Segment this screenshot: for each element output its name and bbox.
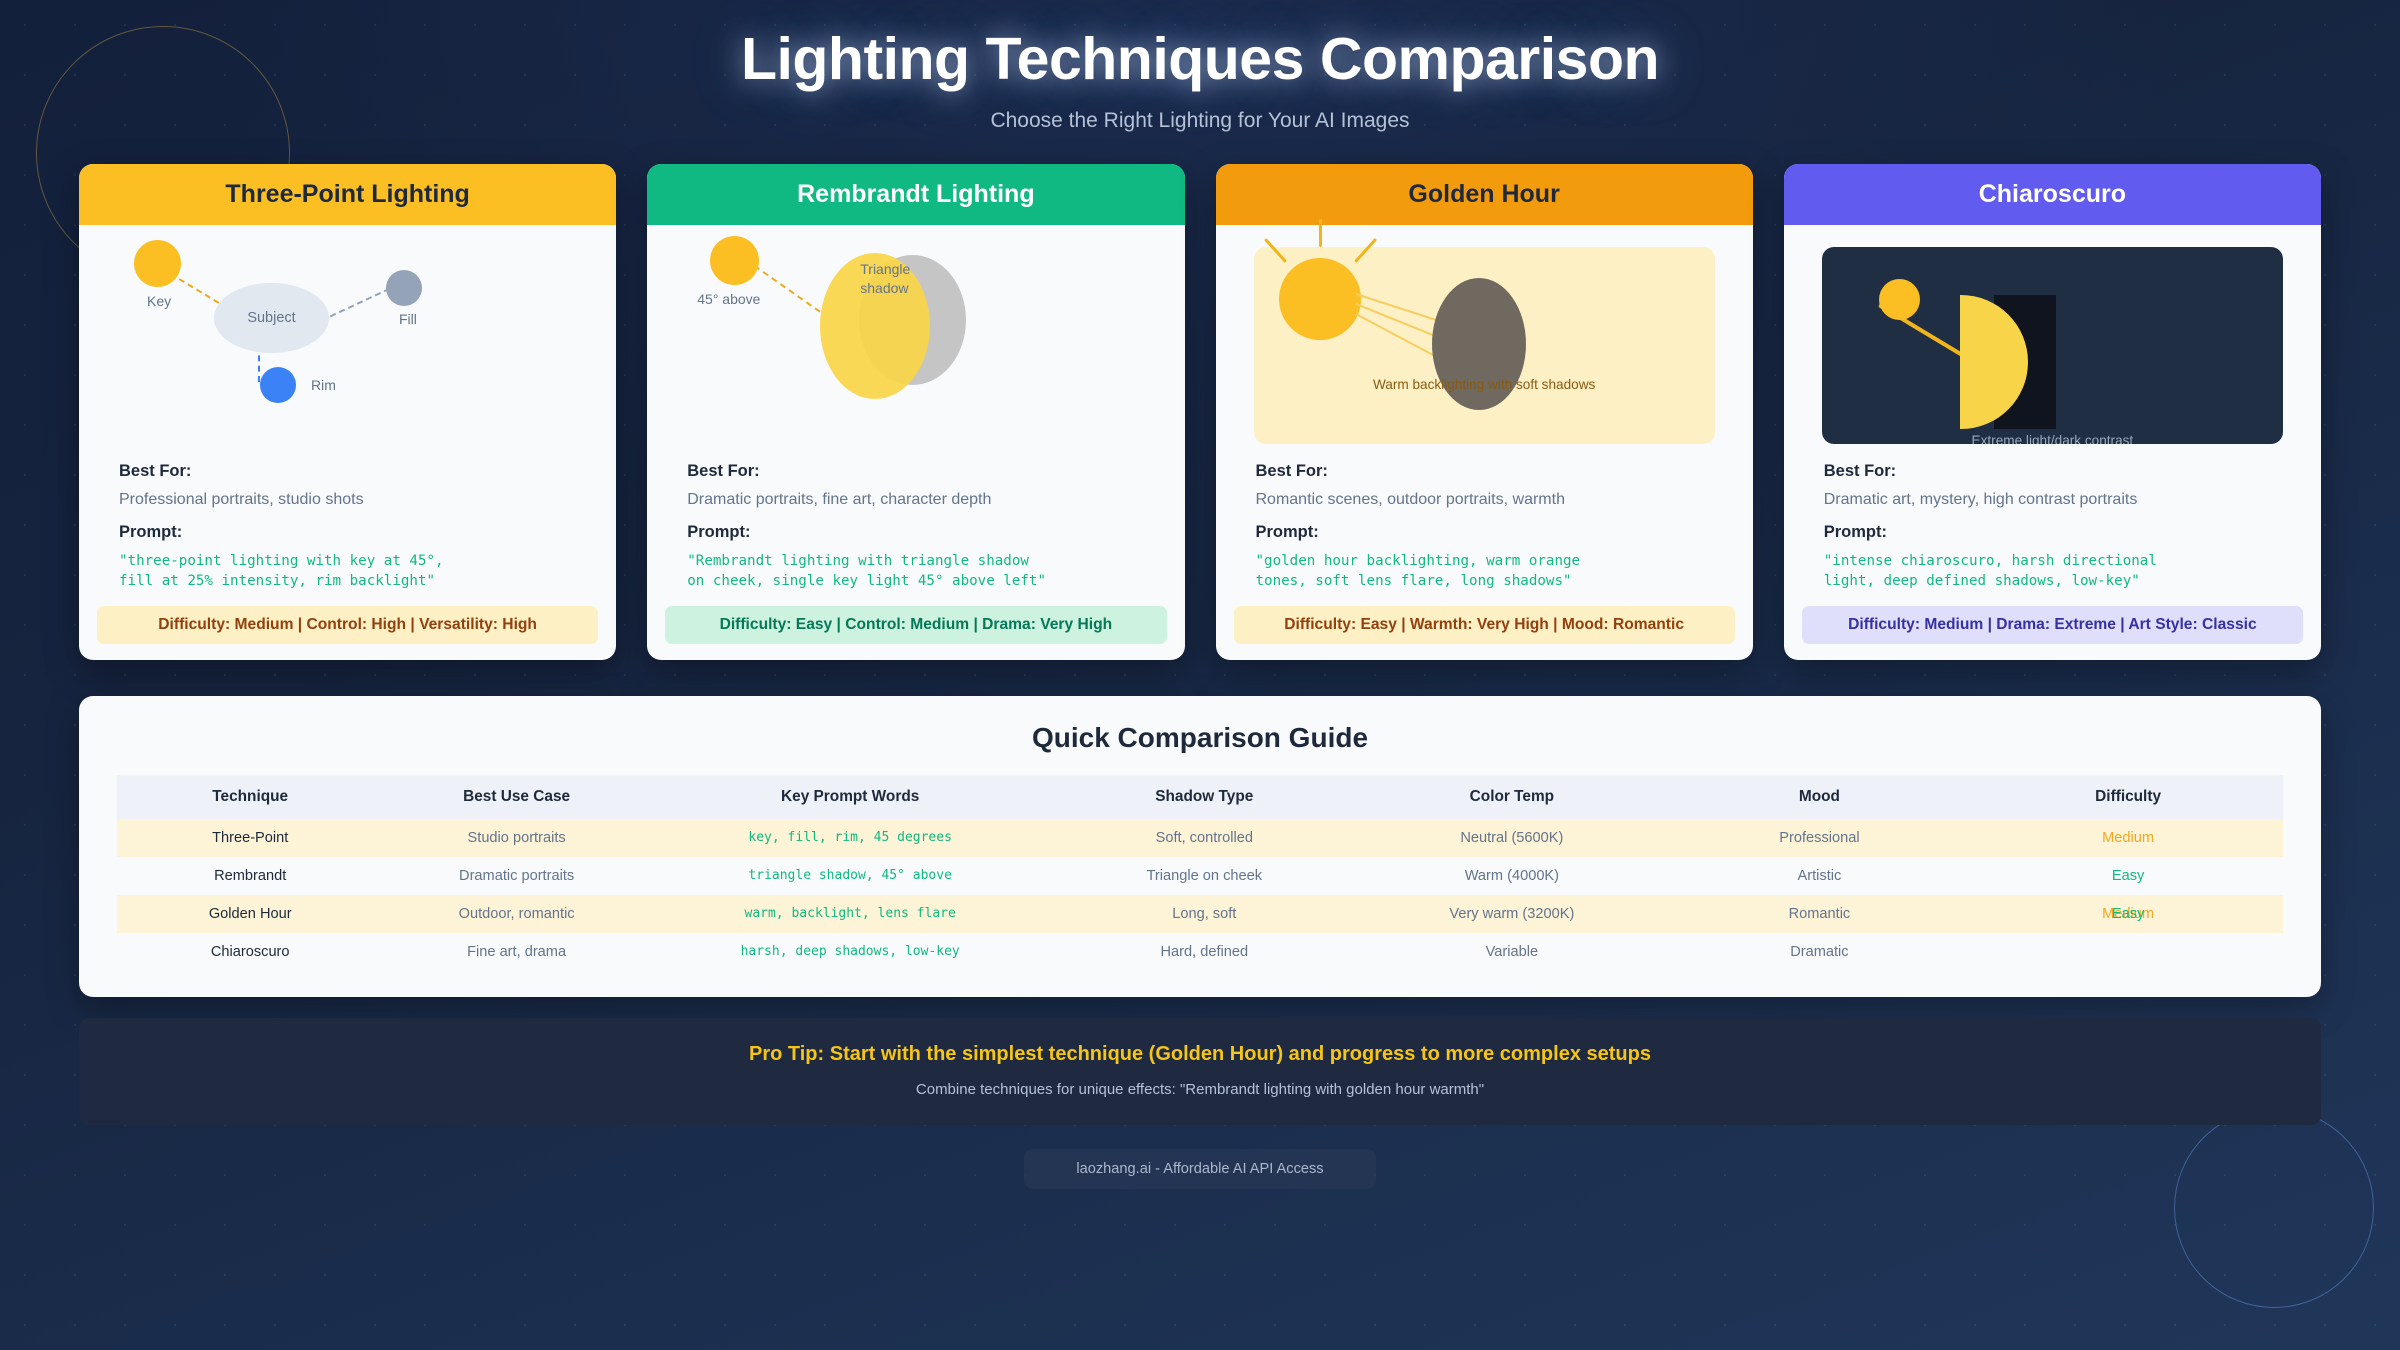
comparison-table: Technique Best Use Case Key Prompt Words… (117, 775, 2283, 971)
key-light-label: Key (147, 293, 171, 309)
card-badge: Difficulty: Easy | Warmth: Very High | M… (1234, 606, 1735, 644)
footer-attribution-pill[interactable]: laozhang.ai - Affordable AI API Access (1024, 1149, 1375, 1189)
cell-color-temp: Very warm (3200K) (1358, 895, 1666, 933)
cell-color-temp: Neutral (5600K) (1358, 819, 1666, 857)
three-point-diagram: Subject Key Fill Rim (109, 225, 586, 450)
prompt-label: Prompt: (1256, 523, 1713, 542)
prompt-label: Prompt: (1824, 523, 2281, 542)
comparison-table-section: Quick Comparison Guide Technique Best Us… (79, 696, 2321, 997)
card-header-golden-hour: Golden Hour (1216, 164, 1753, 225)
col-key-prompt-words: Key Prompt Words (650, 775, 1051, 819)
chiaroscuro-diagram: Extreme light/dark contrast (1814, 225, 2291, 450)
prompt-label: Prompt: (119, 523, 576, 542)
col-shadow-type: Shadow Type (1051, 775, 1359, 819)
col-technique: Technique (117, 775, 383, 819)
prompt-value[interactable]: "Rembrandt lighting with triangle shadow… (687, 551, 1144, 592)
table-row[interactable]: Golden Hour Outdoor, romantic warm, back… (117, 895, 2283, 933)
cell-use-case: Studio portraits (383, 819, 649, 857)
technique-card-list: Three-Point Lighting Subject Key Fill Ri… (0, 133, 2400, 660)
table-header-row: Technique Best Use Case Key Prompt Words… (117, 775, 2283, 819)
golden-hour-diagram: Warm backlighting with soft shadows (1246, 225, 1723, 450)
card-header-three-point: Three-Point Lighting (79, 164, 616, 225)
card-badge: Difficulty: Medium | Drama: Extreme | Ar… (1802, 606, 2303, 644)
technique-card-rembrandt[interactable]: Rembrandt Lighting 45° above Triangle sh… (647, 164, 1184, 660)
comparison-table-title: Quick Comparison Guide (117, 722, 2283, 754)
chiaroscuro-caption: Extreme light/dark contrast (1822, 433, 2283, 444)
card-title: Golden Hour (1408, 180, 1559, 209)
decorative-blue-circle (2174, 1108, 2374, 1308)
card-body: Warm backlighting with soft shadows Best… (1216, 225, 1753, 660)
best-for-value: Dramatic art, mystery, high contrast por… (1824, 490, 2281, 511)
light-angle-label: 45° above (697, 291, 760, 307)
key-light-dot (710, 236, 759, 285)
best-for-label: Best For: (687, 462, 1144, 481)
cell-technique: Three-Point (117, 819, 383, 857)
col-difficulty: Difficulty (1973, 775, 2283, 819)
table-row[interactable]: Three-Point Studio portraits key, fill, … (117, 819, 2283, 857)
page-footer: laozhang.ai - Affordable AI API Access (0, 1149, 2400, 1189)
light-to-face-line (754, 265, 821, 313)
key-light-dot (134, 240, 181, 287)
technique-card-golden-hour[interactable]: Golden Hour Warm backlighting with soft … (1216, 164, 1753, 660)
cell-mood: Artistic (1666, 857, 1974, 895)
page-background: Lighting Techniques Comparison Choose th… (0, 0, 2400, 1350)
cell-technique: Golden Hour (117, 895, 383, 933)
col-best-use-case: Best Use Case (383, 775, 649, 819)
cell-technique: Rembrandt (117, 857, 383, 895)
col-mood: Mood (1666, 775, 1974, 819)
card-header-rembrandt: Rembrandt Lighting (647, 164, 1184, 225)
pro-tip-banner: Pro Tip: Start with the simplest techniq… (79, 1018, 2321, 1125)
cell-keywords: harsh, deep shadows, low-key (650, 933, 1051, 971)
cell-difficulty: Medium (1973, 819, 2283, 857)
prompt-value[interactable]: "golden hour backlighting, warm orange t… (1256, 551, 1713, 592)
prompt-value[interactable]: "intense chiaroscuro, harsh directional … (1824, 551, 2281, 592)
cell-difficulty (1973, 933, 2283, 971)
card-body: Subject Key Fill Rim Best For: Professio… (79, 225, 616, 660)
page-title: Lighting Techniques Comparison (0, 28, 2400, 92)
technique-card-chiaroscuro[interactable]: Chiaroscuro Extreme light/dark contrast … (1784, 164, 2321, 660)
cell-keywords: warm, backlight, lens flare (650, 895, 1051, 933)
col-color-temp: Color Temp (1358, 775, 1666, 819)
difficulty-overlay: Easy (2112, 906, 2144, 922)
fill-light-label: Fill (399, 311, 417, 327)
difficulty-value: Easy (2112, 868, 2144, 884)
prompt-label: Prompt: (687, 523, 1144, 542)
page-subtitle: Choose the Right Lighting for Your AI Im… (0, 109, 2400, 133)
cell-shadow: Soft, controlled (1051, 819, 1359, 857)
best-for-label: Best For: (1824, 462, 2281, 481)
cell-mood: Professional (1666, 819, 1974, 857)
prompt-value[interactable]: "three-point lighting with key at 45°, f… (119, 551, 576, 592)
cell-keywords: key, fill, rim, 45 degrees (650, 819, 1051, 857)
subject-label: Subject (247, 310, 295, 326)
cell-shadow: Long, soft (1051, 895, 1359, 933)
card-title: Rembrandt Lighting (797, 180, 1034, 209)
cell-use-case: Outdoor, romantic (383, 895, 649, 933)
card-badge: Difficulty: Medium | Control: High | Ver… (97, 606, 598, 644)
subject-shape: Subject (214, 283, 329, 353)
sun-ray-top (1319, 219, 1322, 247)
cell-keywords: triangle shadow, 45° above (650, 857, 1051, 895)
pro-tip-title: Pro Tip: Start with the simplest techniq… (99, 1043, 2301, 1066)
best-for-value: Dramatic portraits, fine art, character … (687, 490, 1144, 511)
card-body: Extreme light/dark contrast Best For: Dr… (1784, 225, 2321, 660)
card-badge: Difficulty: Easy | Control: Medium | Dra… (665, 606, 1166, 644)
rembrandt-diagram: 45° above Triangle shadow (677, 225, 1154, 450)
difficulty-value: Medium (2102, 830, 2154, 846)
cell-mood: Dramatic (1666, 933, 1974, 971)
cell-use-case: Fine art, drama (383, 933, 649, 971)
best-for-value: Professional portraits, studio shots (119, 490, 576, 511)
table-row[interactable]: Rembrandt Dramatic portraits triangle sh… (117, 857, 2283, 895)
card-header-chiaroscuro: Chiaroscuro (1784, 164, 2321, 225)
cell-difficulty: Medium Easy (1973, 895, 2283, 933)
best-for-label: Best For: (119, 462, 576, 481)
best-for-value: Romantic scenes, outdoor portraits, warm… (1256, 490, 1713, 511)
card-title: Chiaroscuro (1979, 180, 2126, 209)
cell-shadow: Hard, defined (1051, 933, 1359, 971)
triangle-shadow-label: Triangle shadow (860, 260, 910, 298)
page-header: Lighting Techniques Comparison Choose th… (0, 0, 2400, 133)
rim-light-label: Rim (311, 377, 336, 393)
cell-use-case: Dramatic portraits (383, 857, 649, 895)
cell-color-temp: Warm (4000K) (1358, 857, 1666, 895)
cell-color-temp: Variable (1358, 933, 1666, 971)
card-title: Three-Point Lighting (225, 180, 469, 209)
cell-shadow: Triangle on cheek (1051, 857, 1359, 895)
golden-hour-caption: Warm backlighting with soft shadows (1246, 377, 1723, 392)
key-light-dot (1879, 279, 1920, 320)
rim-light-dot (260, 367, 296, 403)
cell-difficulty: Easy (1973, 857, 2283, 895)
dark-panel: Extreme light/dark contrast (1822, 247, 2283, 444)
sun-circle (1279, 258, 1361, 340)
fill-light-dot (386, 270, 422, 306)
technique-card-three-point[interactable]: Three-Point Lighting Subject Key Fill Ri… (79, 164, 616, 660)
cell-mood: Romantic (1666, 895, 1974, 933)
best-for-label: Best For: (1256, 462, 1713, 481)
table-row[interactable]: Chiaroscuro Fine art, drama harsh, deep … (117, 933, 2283, 971)
card-body: 45° above Triangle shadow Best For: Dram… (647, 225, 1184, 660)
cell-technique: Chiaroscuro (117, 933, 383, 971)
pro-tip-subtitle: Combine techniques for unique effects: "… (99, 1081, 2301, 1098)
